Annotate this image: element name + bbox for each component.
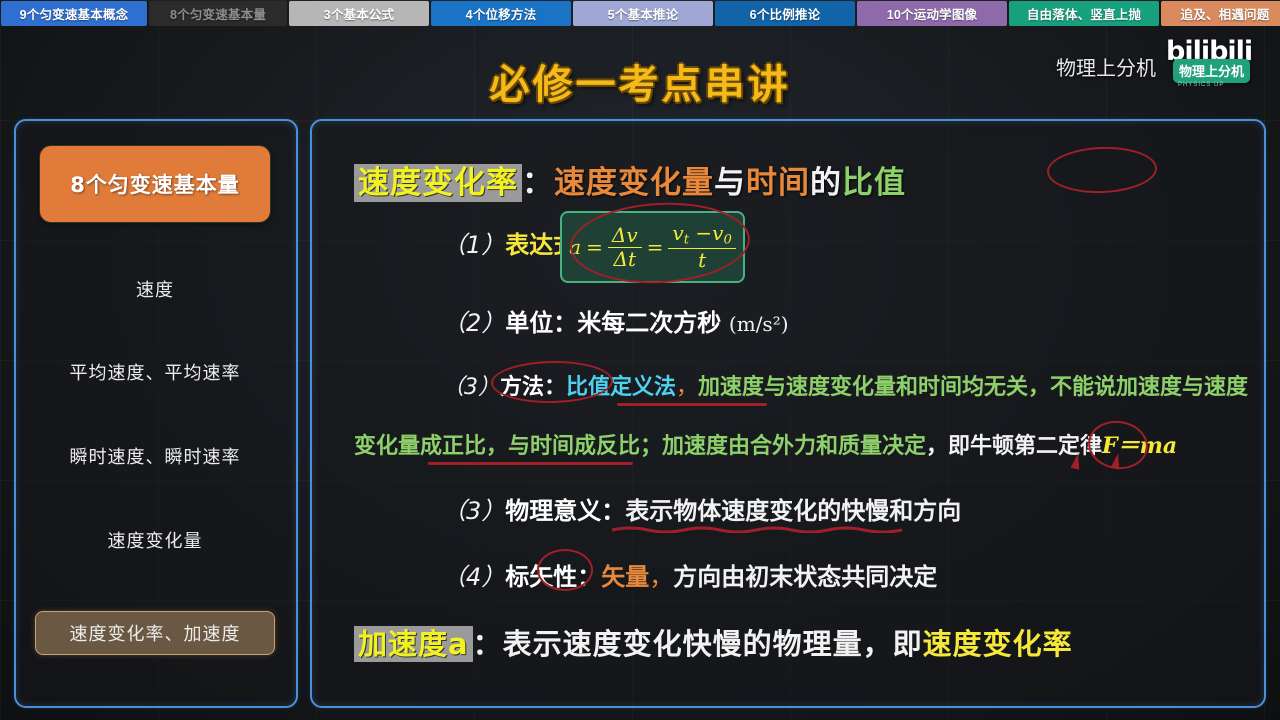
content-body: 速度变化率：速度变化量与时间的比值 （1）表达式： a = Δv Δt = vt… — [312, 121, 1268, 710]
chapter-tab-1[interactable]: 9个匀变速基本概念 — [1, 1, 147, 26]
acceleration-summary-line: 加速度a：表示速度变化快慢的物理量，即速度变化率 — [354, 621, 1073, 663]
method-line-2: 变化量成正比，与时间成反比；加速度由合外力和质量决定，即牛顿第二定律F＝ma — [354, 428, 1177, 460]
logo-badge: 物理上分机 — [1173, 59, 1250, 83]
chapter-tab-8[interactable]: 自由落体、竖直上抛 — [1009, 1, 1159, 26]
heading-part3: 时间 — [746, 165, 810, 201]
vector-line: （4）标矢性：矢量，方向由初末状态共同决定 — [442, 557, 937, 592]
method-text-3: ，即牛顿第二定律 — [926, 434, 1102, 459]
meaning-wavy-underline — [612, 525, 902, 533]
formula-equals-1: = — [586, 235, 603, 259]
method-number: （3） — [442, 375, 500, 400]
expression-number: （1） — [442, 231, 505, 259]
fraction-2-denominator: t — [694, 249, 710, 271]
method-underline-1 — [617, 403, 767, 406]
sidebar-item-1[interactable]: 速度 — [35, 267, 275, 311]
method-line: （3）方法：比值定义法，加速度与速度变化量和时间均无关，不能说加速度与速度 — [442, 369, 1248, 401]
heading-colon: ： — [522, 165, 554, 201]
method-term: 比值定义法 — [566, 375, 676, 400]
vector-term: 矢量 — [601, 563, 649, 591]
sidebar-heading: 8个匀变速基本量 — [39, 145, 271, 223]
heading-term: 速度变化率 — [354, 164, 522, 202]
vector-number: （4） — [442, 563, 505, 591]
chapter-tab-7[interactable]: 10个运动学图像 — [857, 1, 1007, 26]
method-text-1: 加速度与速度变化量和时间均无关，不能说加速度与速度 — [698, 375, 1248, 400]
acceleration-formula: a = Δv Δt = vt −v0 t — [560, 211, 745, 283]
slide-page: 9个匀变速基本概念8个匀变速基本量3个基本公式4个位移方法5个基本推论6个比例推… — [0, 0, 1280, 720]
sidebar-item-2[interactable]: 平均速度、平均速率 — [35, 350, 275, 394]
unit-number: （2） — [442, 309, 505, 337]
vector-comma: ， — [649, 563, 673, 591]
meaning-text: 表示物体速度变化的快慢和方向 — [625, 497, 961, 525]
accel-colon: ： — [473, 627, 503, 661]
formula-fraction-2: vt −v0 t — [668, 223, 735, 272]
unit-label: 单位： — [505, 309, 577, 337]
chapter-tab-4[interactable]: 4个位移方法 — [431, 1, 571, 26]
accel-term: 加速度a — [354, 626, 473, 662]
vector-text: 方向由初末状态共同决定 — [673, 563, 937, 591]
accel-text-1: 表示速度变化快慢的物理量，即 — [503, 627, 923, 661]
fraction-1-numerator: Δv — [608, 225, 642, 248]
unit-si: (m/s²) — [729, 312, 789, 336]
chapter-tab-3[interactable]: 3个基本公式 — [289, 1, 429, 26]
heading-part1: 速度变化量 — [554, 165, 714, 201]
accel-text-2: 速度变化率 — [923, 627, 1073, 661]
method-underline-2 — [428, 462, 633, 465]
formula-fraction-1: Δv Δt — [608, 225, 642, 270]
formula-lhs: a — [569, 235, 581, 259]
content-panel: 速度变化率：速度变化量与时间的比值 （1）表达式： a = Δv Δt = vt… — [310, 119, 1266, 708]
unit-line: （2）单位：米每二次方秒 (m/s²) — [442, 303, 789, 338]
fraction-1-denominator: Δt — [609, 248, 640, 270]
chapter-tab-5[interactable]: 5个基本推论 — [573, 1, 713, 26]
sidebar-item-4[interactable]: 速度变化量 — [35, 518, 275, 562]
vector-label: 标矢性： — [505, 563, 601, 591]
meaning-number: （3） — [442, 497, 505, 525]
method-label: 方法： — [500, 375, 566, 400]
watermark-text: 物理上分机 — [1056, 52, 1156, 81]
watermark: 物理上分机 bilibili 物理上分机 PHYSICS UP — [1056, 38, 1262, 94]
logo-subtitle: PHYSICS UP — [1178, 82, 1224, 88]
heading-part4: 的 — [810, 165, 842, 201]
fraction-2-numerator: vt −v0 — [668, 223, 735, 250]
formula-equals-2: = — [647, 235, 664, 259]
meaning-label: 物理意义： — [505, 497, 625, 525]
chapter-tab-9[interactable]: 追及、相遇问题 — [1161, 1, 1280, 26]
unit-value: 米每二次方秒 — [577, 309, 721, 337]
chapter-tab-bar: 9个匀变速基本概念8个匀变速基本量3个基本公式4个位移方法5个基本推论6个比例推… — [0, 0, 1280, 26]
heading-part5: 比值 — [842, 165, 906, 201]
heading-part2: 与 — [714, 165, 746, 201]
content-heading: 速度变化率：速度变化量与时间的比值 — [354, 157, 906, 202]
method-comma: ， — [676, 375, 698, 400]
sidebar-item-5[interactable]: 速度变化率、加速度 — [35, 611, 275, 655]
sidebar-item-3[interactable]: 瞬时速度、瞬时速率 — [35, 434, 275, 478]
newton-second-law-formula: F＝ma — [1102, 433, 1177, 459]
meaning-line: （3）物理意义：表示物体速度变化的快慢和方向 — [442, 491, 961, 526]
chapter-tab-2[interactable]: 8个匀变速基本量 — [149, 1, 287, 26]
time-circle-annotation — [1046, 145, 1158, 195]
method-text-2: 变化量成正比，与时间成反比；加速度由合外力和质量决定 — [354, 434, 926, 459]
sidebar-panel: 8个匀变速基本量 速度平均速度、平均速率瞬时速度、瞬时速率速度变化量速度变化率、… — [14, 119, 298, 708]
chapter-tab-6[interactable]: 6个比例推论 — [715, 1, 855, 26]
bilibili-logo: bilibili 物理上分机 PHYSICS UP — [1166, 38, 1262, 94]
